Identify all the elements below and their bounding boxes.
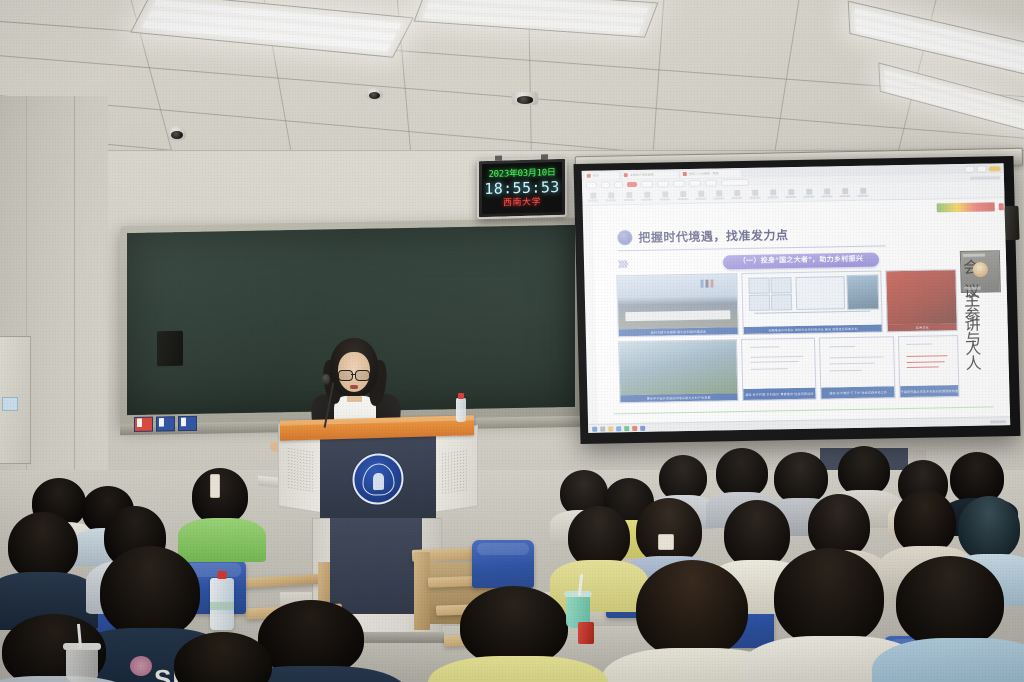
university-emblem bbox=[353, 453, 404, 505]
slide-grid-cell: 关于组织开展大学生乡村振兴志愿服务的通知 bbox=[898, 335, 959, 398]
slide-cell-caption: 驻村干部下乡调研·助力乡村振兴座谈会 bbox=[650, 329, 706, 334]
audience-member bbox=[0, 614, 120, 682]
slide-thumbnail[interactable] bbox=[582, 242, 584, 249]
wechat-icon[interactable] bbox=[624, 426, 629, 431]
tab-favicon-icon bbox=[624, 173, 628, 177]
reset-icon bbox=[644, 191, 650, 197]
window-close-button[interactable] bbox=[989, 166, 1001, 171]
led-clock-institution: 西南大学 bbox=[503, 196, 541, 208]
slide-grid-cell: 通知 关于开展“乡村振兴 青春建功”社会实践活动 bbox=[741, 338, 817, 401]
ribbon-button[interactable] bbox=[785, 188, 796, 197]
redo-button[interactable] bbox=[614, 181, 623, 188]
ribbon-button[interactable] bbox=[587, 192, 598, 201]
slide-grid-cell: 红色文化 bbox=[886, 269, 958, 332]
slide-thumbnail[interactable] bbox=[582, 262, 584, 269]
layout-icon bbox=[626, 192, 632, 198]
quick-styles-icon bbox=[752, 189, 758, 195]
slide-title: 把握时代境遇，找准发力点 bbox=[638, 228, 788, 245]
file-explorer-icon[interactable] bbox=[608, 426, 613, 431]
chalk-box[interactable]: █ bbox=[156, 416, 175, 431]
hair-clip bbox=[658, 534, 674, 550]
font-icon bbox=[680, 191, 686, 197]
podium-right-wing bbox=[430, 425, 478, 514]
red-item-on-desk bbox=[578, 622, 594, 644]
window-maximize-button[interactable] bbox=[977, 165, 987, 172]
new-slide-icon bbox=[608, 192, 614, 198]
audience-member bbox=[186, 468, 254, 552]
taskbar-clock bbox=[990, 420, 1006, 423]
ceiling-light-panel bbox=[414, 0, 659, 38]
slide-badge-icon bbox=[617, 230, 632, 245]
slide-image-grid: 驻村干部下乡调研·助力乡村振兴座谈会 bbox=[616, 269, 959, 403]
section-icon bbox=[662, 191, 668, 197]
photo-group-meeting bbox=[617, 274, 737, 329]
slide-decor-ribbon-icon bbox=[937, 202, 995, 212]
wall-cabinet bbox=[0, 336, 31, 464]
tab-favicon-icon bbox=[587, 174, 591, 178]
slide-thumbnail[interactable] bbox=[582, 232, 584, 239]
glasses-icon bbox=[355, 370, 370, 381]
photo-field-visit bbox=[619, 340, 737, 395]
ribbon-button[interactable] bbox=[821, 188, 832, 197]
led-clock-face: 2023年03月10日 18:55:53 西南大学 bbox=[482, 162, 562, 214]
window-status bbox=[970, 176, 1000, 180]
slide-cell-caption-bar: 通知 关于开展“乡村振兴 青春建功”社会实践活动 bbox=[743, 388, 816, 400]
ribbon-button[interactable] bbox=[641, 191, 652, 200]
screen-side-mount bbox=[1004, 206, 1019, 240]
drink-cup bbox=[66, 648, 98, 682]
podium-front-panel bbox=[320, 434, 436, 523]
browser-tab[interactable]: 党的二十大报告 - 专题 bbox=[681, 170, 741, 178]
photo-notice-doc bbox=[742, 339, 816, 389]
slide-grid-cell: 驻村干部下乡调研·助力乡村振兴座谈会 bbox=[616, 273, 739, 337]
outline-icon bbox=[788, 189, 794, 195]
paragraph-icon bbox=[698, 190, 704, 196]
speaker-mouth bbox=[350, 385, 358, 389]
slide-cell-caption: 全面推进乡村振兴 加快农业农村现代化 建设 宜居宜业和美乡村 bbox=[768, 326, 858, 332]
browser-icon[interactable] bbox=[616, 426, 621, 431]
video-call-panel[interactable]: 会议参与人 主讲人 bbox=[960, 250, 1001, 293]
wall-speaker bbox=[157, 331, 183, 366]
avatar bbox=[973, 262, 988, 277]
ceiling-smoke-detector bbox=[366, 88, 383, 100]
slide-decor-mark-icon bbox=[999, 203, 1004, 210]
slide-grid-cell: 通知 关于做好“三下乡”社会实践专项工作 bbox=[819, 336, 895, 399]
menu-design[interactable] bbox=[689, 179, 701, 186]
arrange-icon bbox=[734, 190, 740, 196]
chalk-box[interactable]: █ bbox=[178, 416, 197, 431]
water-bottle bbox=[456, 398, 466, 422]
ceiling-light-panel bbox=[878, 62, 1024, 137]
chalk-box[interactable]: █ bbox=[134, 417, 153, 432]
ceiling-projector-mount bbox=[512, 92, 538, 105]
slide-canvas[interactable]: 把握时代境遇，找准发力点 》》》 （一）投身“国之大者”，助力乡村振兴 《《《 bbox=[593, 198, 1010, 423]
menu-home[interactable] bbox=[657, 180, 669, 187]
slide-title-underline bbox=[618, 245, 886, 251]
meeting-icon[interactable] bbox=[640, 425, 645, 430]
bottle-label bbox=[210, 602, 234, 610]
ceiling-light-panel bbox=[848, 1, 1024, 80]
video-panel-label: 会议参与人 bbox=[963, 254, 985, 257]
ribbon-button[interactable] bbox=[677, 190, 688, 199]
glasses-icon bbox=[338, 370, 353, 381]
photo-notice-doc-red bbox=[899, 336, 958, 386]
browser-tab-title: 中国共产党新闻网 bbox=[630, 173, 654, 177]
find-icon bbox=[824, 188, 830, 194]
ribbon-button[interactable] bbox=[857, 187, 868, 196]
slide-thumbnail[interactable] bbox=[582, 212, 583, 219]
slide-cell-caption: 通知 关于做好“三下乡”社会实践专项工作 bbox=[829, 390, 887, 395]
fill-icon bbox=[770, 189, 776, 195]
save-button[interactable] bbox=[586, 181, 597, 188]
ribbon-button[interactable] bbox=[695, 190, 706, 199]
cabinet-label bbox=[2, 397, 18, 411]
effects-icon bbox=[806, 188, 812, 194]
slide-grid-cell: 全面推进乡村振兴 加快农业农村现代化 建设 宜居宜业和美乡村 bbox=[741, 270, 883, 335]
slide-cell-caption-bar: 红色文化 bbox=[888, 323, 957, 331]
slide-cell-caption: 青年学子返乡走进田间地头助力乡村产业发展 bbox=[647, 395, 711, 400]
menu-file[interactable] bbox=[641, 180, 653, 187]
slide-thumbnail[interactable] bbox=[582, 252, 584, 259]
browser-tab[interactable]: 中国共产党新闻网 bbox=[622, 171, 678, 179]
menu-slideshow[interactable] bbox=[721, 178, 749, 186]
microphone-icon bbox=[322, 374, 330, 385]
menu-insert[interactable] bbox=[673, 180, 685, 187]
tab-favicon-icon bbox=[683, 172, 687, 176]
audience-member bbox=[0, 512, 86, 622]
slide-subtitle-row: 》》》 （一）投身“国之大者”，助力乡村振兴 《《《 bbox=[618, 251, 984, 272]
search-icon[interactable] bbox=[600, 426, 605, 431]
audience-member bbox=[158, 632, 288, 682]
ribbon-button[interactable] bbox=[803, 188, 814, 197]
browser-tab-title: 党的二十大报告 - 专题 bbox=[689, 171, 719, 176]
ribbon-button[interactable] bbox=[623, 191, 634, 200]
ribbon-button[interactable] bbox=[605, 192, 616, 201]
ceiling-dome-camera bbox=[168, 126, 186, 141]
projection-screen: 首页 中国共产党新闻网 党的二十大报告 - 专题 bbox=[573, 156, 1020, 444]
select-icon bbox=[860, 187, 866, 193]
slide-subtitle-pill: （一）投身“国之大者”，助力乡村振兴 bbox=[723, 252, 880, 269]
replace-icon bbox=[842, 188, 848, 194]
video-participant-name: 主讲人 bbox=[964, 287, 981, 290]
ribbon-button[interactable] bbox=[713, 190, 724, 199]
ribbon-button[interactable] bbox=[839, 188, 850, 197]
undo-button[interactable] bbox=[601, 181, 610, 188]
slide-grid-row: 青年学子返乡走进田间地头助力乡村产业发展 通知 关于开展“乡 bbox=[618, 335, 960, 403]
ribbon-button[interactable] bbox=[731, 189, 742, 198]
slide-thumbnail[interactable] bbox=[582, 222, 583, 229]
logo-strip-icon bbox=[701, 280, 727, 288]
window-minimize-button[interactable] bbox=[965, 165, 975, 172]
shapes-icon bbox=[716, 190, 722, 196]
menu-transitions[interactable] bbox=[705, 179, 717, 186]
photo-notice-doc bbox=[820, 337, 894, 387]
ribbon-button[interactable] bbox=[659, 191, 670, 200]
slide-cell-caption: 关于组织开展大学生乡村振兴志愿服务的通知 bbox=[898, 389, 959, 394]
audience-member bbox=[880, 556, 1024, 682]
slide-cell-caption-bar: 通知 关于做好“三下乡”社会实践专项工作 bbox=[822, 386, 895, 398]
browser-tab-title: 首页 bbox=[593, 174, 599, 178]
ribbon-button[interactable] bbox=[767, 189, 778, 198]
jacket-flower-icon bbox=[130, 656, 152, 676]
slide-progress-line bbox=[614, 406, 993, 414]
chevron-right-icon: 》》》 bbox=[618, 260, 631, 269]
slide-cell-caption-bar: 关于组织开展大学生乡村振兴志愿服务的通知 bbox=[900, 385, 958, 397]
slide-cell-caption: 通知 关于开展“乡村振兴 青春建功”社会实践活动 bbox=[745, 391, 814, 396]
led-clock-time: 18:55:53 bbox=[484, 178, 559, 197]
hair-clip bbox=[210, 474, 220, 498]
slide-grid-row: 驻村干部下乡调研·助力乡村振兴座谈会 bbox=[616, 269, 958, 337]
projected-desktop: 首页 中国共产党新闻网 党的二十大报告 - 专题 bbox=[582, 163, 1011, 433]
glasses-bridge bbox=[351, 374, 355, 375]
photo-red-banner bbox=[887, 270, 957, 324]
browser-tab[interactable]: 首页 bbox=[585, 172, 619, 180]
slide-grid-cell: 青年学子返乡走进田间地头助力乡村产业发展 bbox=[618, 339, 738, 403]
slide-thumbnail-rail[interactable] bbox=[582, 206, 588, 424]
slide-title-row: 把握时代境遇，找准发力点 bbox=[617, 224, 965, 245]
auditorium-chair[interactable] bbox=[472, 540, 534, 588]
lecture-hall-photo: █ █ █ 2023年03月10日 18:55:53 西南大学 首页 中国共产 bbox=[0, 0, 1024, 682]
led-clock: 2023年03月10日 18:55:53 西南大学 bbox=[477, 157, 567, 220]
paste-icon bbox=[590, 192, 596, 198]
photo-document-screens bbox=[742, 271, 882, 327]
bottle-cap bbox=[218, 571, 227, 579]
start-icon[interactable] bbox=[592, 426, 597, 431]
student-desk-side bbox=[414, 552, 430, 630]
slide-cell-caption: 红色文化 bbox=[916, 325, 929, 329]
wps-presentation-icon[interactable] bbox=[632, 425, 637, 430]
water-bottle bbox=[210, 578, 234, 630]
ribbon-button[interactable] bbox=[749, 189, 760, 198]
record-button[interactable] bbox=[627, 181, 637, 186]
